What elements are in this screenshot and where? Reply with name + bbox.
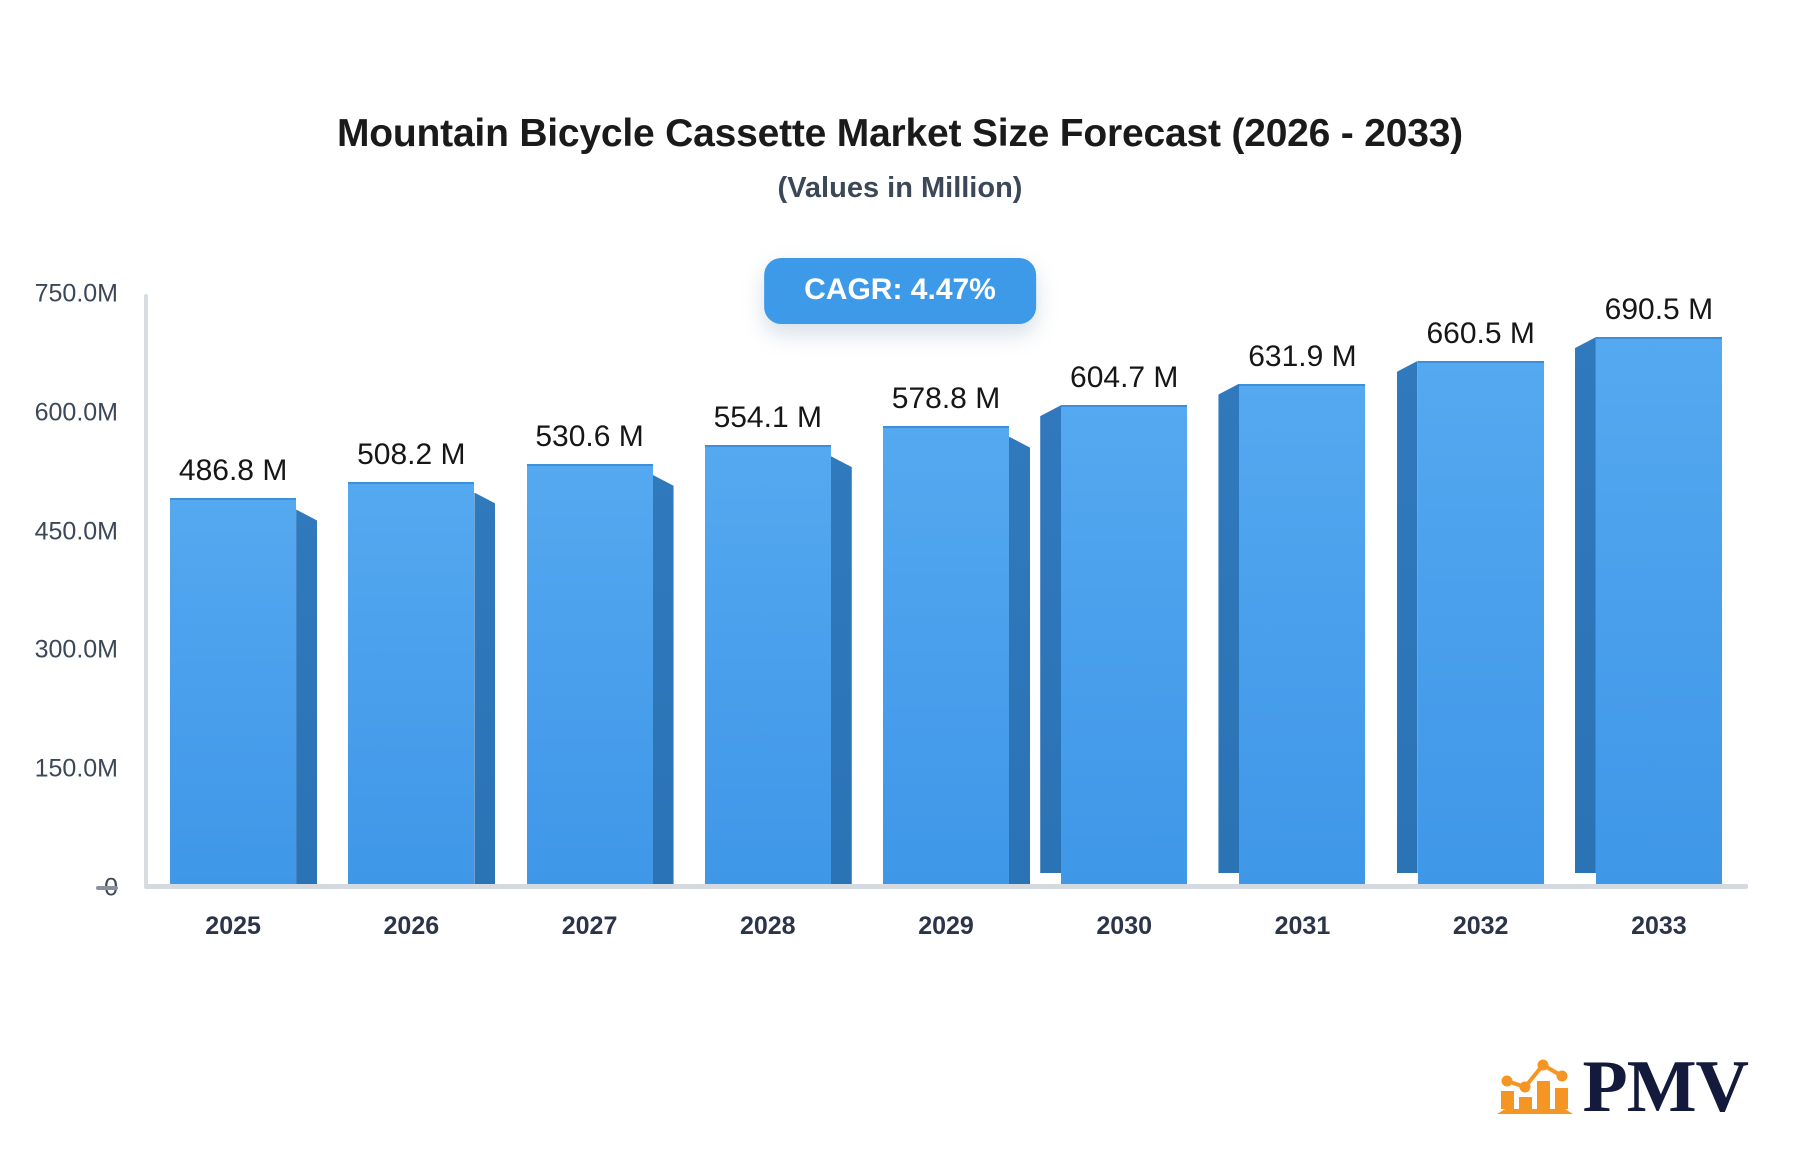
bar-body <box>1596 337 1722 884</box>
bar-body <box>1061 405 1187 884</box>
bar-3d-side <box>1575 337 1596 873</box>
bar-value-label: 554.1 M <box>714 401 822 435</box>
bar-series: 486.8 M508.2 M530.6 M554.1 M578.8 M604.7… <box>144 282 1748 902</box>
bar-3d-side <box>1040 405 1061 873</box>
x-axis-tick-labels: 202520262027202820292030203120322033 <box>144 912 1748 952</box>
pmv-logo: PMV <box>1495 1050 1749 1124</box>
bar-2025[interactable]: 486.8 M <box>170 290 296 884</box>
bar-value-label: 530.6 M <box>535 420 643 454</box>
bar-3d-side <box>653 475 674 884</box>
x-axis-tick-2030: 2030 <box>1096 912 1152 941</box>
bar-face <box>1239 384 1365 884</box>
bar-value-label: 508.2 M <box>357 438 465 472</box>
x-axis-tick-2026: 2026 <box>384 912 440 941</box>
bar-2032[interactable]: 660.5 M <box>1418 290 1544 884</box>
y-axis-tick-450: 450.0M <box>0 517 118 546</box>
bar-value-label: 631.9 M <box>1248 340 1356 374</box>
y-axis-tick-300: 300.0M <box>0 636 118 665</box>
y-axis-tick-150: 150.0M <box>0 755 118 784</box>
x-axis-tick-2027: 2027 <box>562 912 618 941</box>
bar-face <box>705 445 831 884</box>
bar-2026[interactable]: 508.2 M <box>348 290 474 884</box>
x-axis-tick-2033: 2033 <box>1631 912 1687 941</box>
bar-3d-side <box>1397 361 1418 873</box>
pmv-logo-text: PMV <box>1583 1050 1749 1124</box>
bar-chart-logo-icon <box>1495 1051 1575 1124</box>
bar-body <box>1239 384 1365 884</box>
y-axis-tick-600: 600.0M <box>0 398 118 427</box>
y-axis-tick-labels: 750.0M600.0M450.0M300.0M150.0M0 <box>0 282 118 902</box>
bar-value-label: 690.5 M <box>1605 293 1713 327</box>
bar-face <box>348 482 474 884</box>
bar-2033[interactable]: 690.5 M <box>1596 290 1722 884</box>
chart-subtitle: (Values in Million) <box>0 172 1800 205</box>
x-axis-tick-2028: 2028 <box>740 912 796 941</box>
chart-title: Mountain Bicycle Cassette Market Size Fo… <box>0 112 1800 156</box>
bar-value-label: 660.5 M <box>1426 317 1534 351</box>
bar-3d-side <box>1218 384 1239 873</box>
bar-3d-side <box>1009 437 1030 884</box>
bar-face <box>170 498 296 884</box>
bar-face <box>1061 405 1187 884</box>
bar-face <box>1418 361 1544 884</box>
bar-face <box>1596 337 1722 884</box>
x-axis-tick-2031: 2031 <box>1275 912 1331 941</box>
bar-face <box>527 464 653 884</box>
bar-3d-side <box>474 493 495 884</box>
bar-body <box>705 445 831 884</box>
bar-value-label: 604.7 M <box>1070 361 1178 395</box>
bar-body <box>348 482 474 884</box>
bar-body <box>1418 361 1544 884</box>
bar-body <box>883 426 1009 884</box>
bar-2027[interactable]: 530.6 M <box>527 290 653 884</box>
chart-page: Mountain Bicycle Cassette Market Size Fo… <box>0 0 1800 1156</box>
y-axis-zero-tick-mark <box>96 886 118 890</box>
bar-2028[interactable]: 554.1 M <box>705 290 831 884</box>
bar-3d-side <box>296 509 317 884</box>
bar-3d-side <box>831 456 852 884</box>
bar-body <box>527 464 653 884</box>
bar-face <box>883 426 1009 884</box>
bar-2029[interactable]: 578.8 M <box>883 290 1009 884</box>
x-axis-tick-2029: 2029 <box>918 912 974 941</box>
x-axis-tick-2025: 2025 <box>205 912 261 941</box>
bar-2030[interactable]: 604.7 M <box>1061 290 1187 884</box>
bar-value-label: 486.8 M <box>179 454 287 488</box>
bar-body <box>170 498 296 884</box>
bar-2031[interactable]: 631.9 M <box>1239 290 1365 884</box>
x-axis-tick-2032: 2032 <box>1453 912 1509 941</box>
y-axis-tick-750: 750.0M <box>0 280 118 309</box>
bar-value-label: 578.8 M <box>892 382 1000 416</box>
